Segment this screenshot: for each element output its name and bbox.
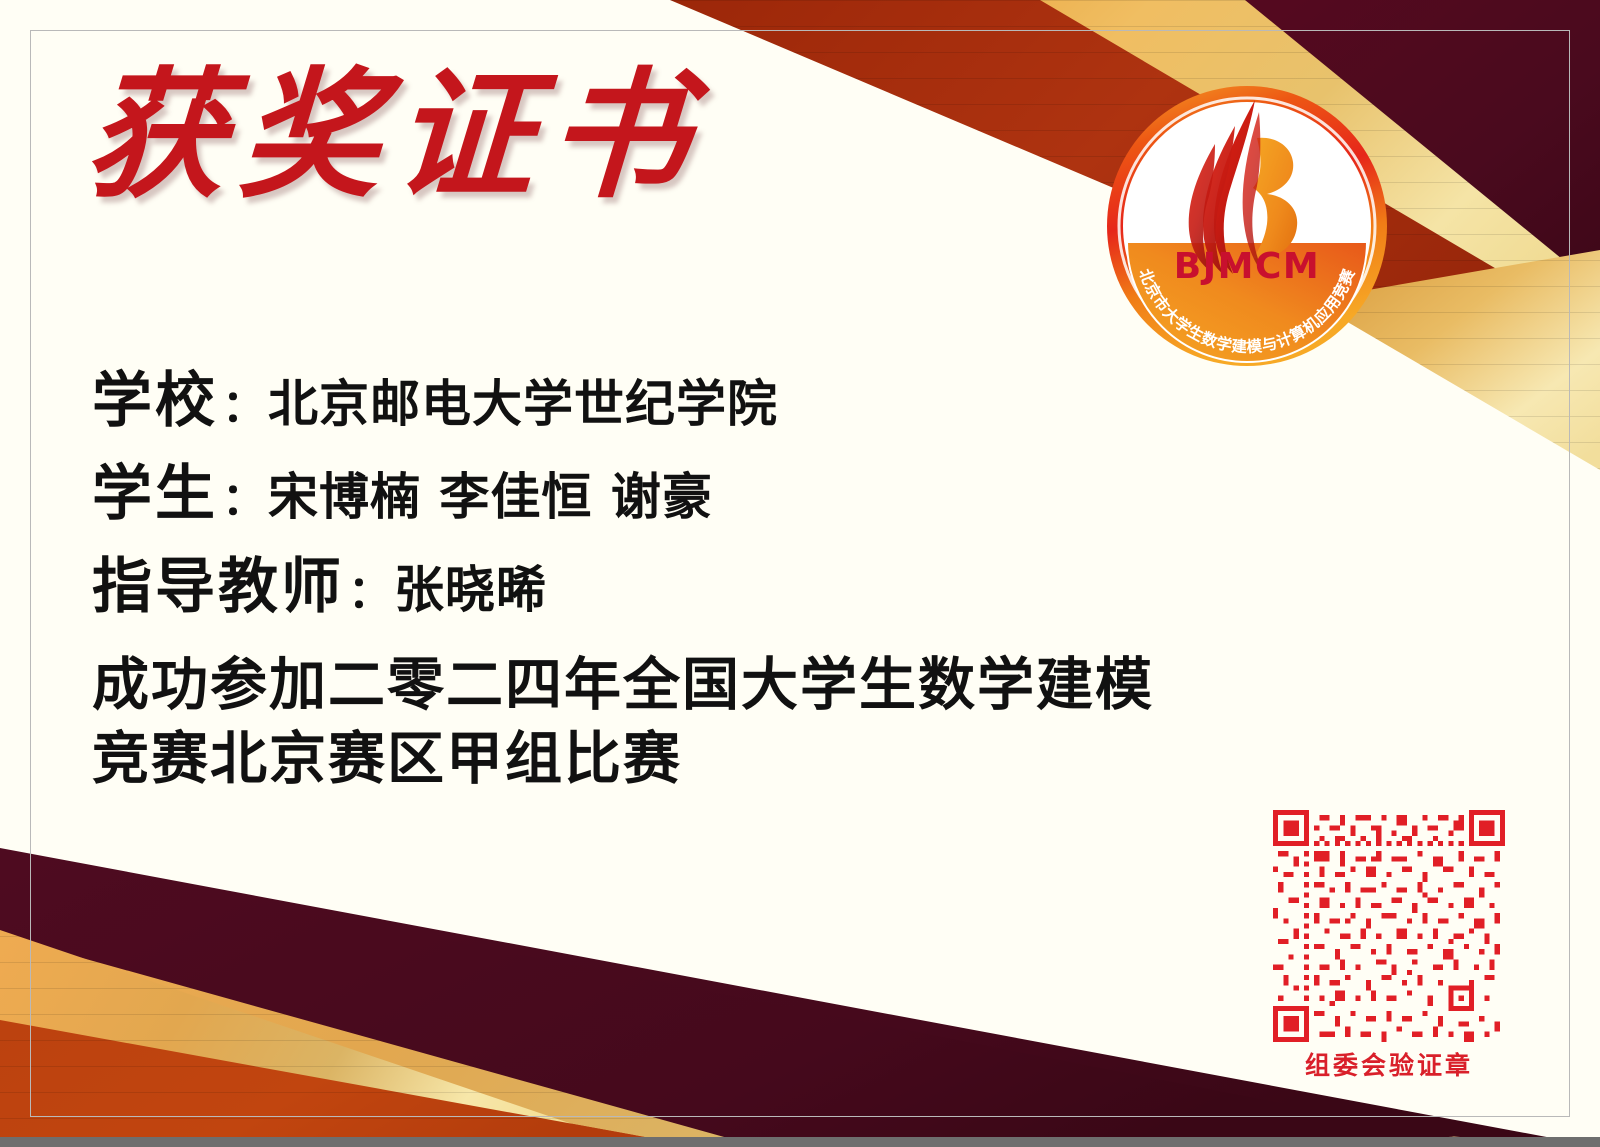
field-row-students: 学生 ： 宋博楠 李佳恒 谢豪 <box>92 459 1532 530</box>
seal-monogram-text: BJMCM <box>1174 246 1320 287</box>
qr-code[interactable] <box>1273 810 1505 1042</box>
field-label-advisor: 指导教师 <box>92 552 344 623</box>
field-row-school: 学校 ： 北京邮电大学世纪学院 <box>92 366 1532 437</box>
ribbon-bottom-orange <box>0 1020 700 1147</box>
qr-caption: 组委会验证章 <box>1273 1046 1505 1082</box>
field-value-students: 宋博楠 李佳恒 谢豪 <box>268 467 713 526</box>
verification-qr-block: 组委会验证章 <box>1273 810 1505 1082</box>
field-value-advisor: 张晓晞 <box>394 560 547 619</box>
field-label-school: 学校 <box>92 366 218 437</box>
field-colon-students: ： <box>218 474 268 526</box>
field-colon-school: ： <box>218 381 268 433</box>
statement-line-2: 竞赛北京赛区甲组比赛 <box>92 722 1532 796</box>
page-title: 获奖证书 <box>82 66 705 206</box>
page-bottom-strip <box>0 1137 1600 1147</box>
certificate-page: 获奖证书 <box>0 0 1600 1147</box>
field-row-advisor: 指导教师 ： 张晓晞 <box>92 552 1532 623</box>
certificate-body: 学校 ： 北京邮电大学世纪学院 学生 ： 宋博楠 李佳恒 谢豪 指导教师 ： 张… <box>92 366 1532 797</box>
field-colon-advisor: ： <box>344 567 394 619</box>
field-label-students: 学生 <box>92 459 218 530</box>
field-value-school: 北京邮电大学世纪学院 <box>268 374 778 433</box>
statement-line-1: 成功参加二零二四年全国大学生数学建模 <box>92 648 1532 722</box>
bjmcm-seal-logo: BJMCM 北京市大学生数学建模与计算机应用竞赛 <box>1103 82 1391 370</box>
